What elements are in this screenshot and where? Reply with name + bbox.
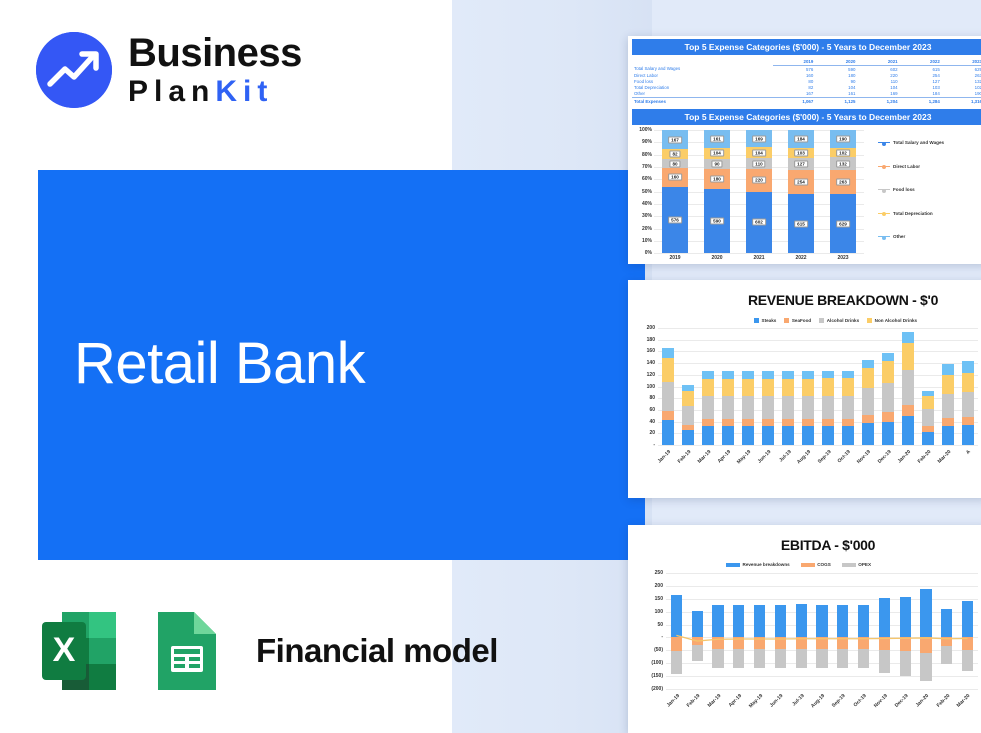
legend-swatch <box>867 318 872 323</box>
stacked-bar <box>662 328 674 445</box>
segment-value-label: 167 <box>668 136 682 143</box>
y-axis-tick: 50% <box>642 189 652 195</box>
bar-segment <box>942 418 954 426</box>
bar-group: Mar-19 <box>698 328 718 445</box>
y-axis-tick: 200 <box>655 583 663 589</box>
table-row: Total Expenses1,0671,1251,2041,2841,316 <box>632 97 981 104</box>
gridline <box>666 573 978 574</box>
plot-area: 1678280160576201916110490180590202016910… <box>654 130 864 253</box>
y-axis-tick: 180 <box>647 337 655 343</box>
x-axis-label: Sep-19 <box>816 449 832 465</box>
stacked-bar <box>822 328 834 445</box>
bar-negative <box>900 651 911 675</box>
bar-group: Feb-19 <box>678 328 698 445</box>
bar-negative <box>920 653 931 681</box>
table-col-header: 2022 <box>900 58 942 66</box>
legend-item: COGS <box>801 562 831 567</box>
bar-segment <box>822 378 834 396</box>
bar-positive <box>712 605 723 637</box>
x-axis-label: Feb-20 <box>935 693 951 709</box>
legend-item: Other <box>878 234 981 239</box>
bar-segment <box>842 419 854 427</box>
bar-segment <box>822 419 834 427</box>
bar-segment <box>722 371 734 379</box>
table-cell: 1,316 <box>942 97 981 104</box>
bar-positive <box>962 601 973 638</box>
segment-value-label: 615 <box>794 220 808 227</box>
legend-swatch <box>726 563 740 567</box>
x-axis-label: May-19 <box>748 693 764 709</box>
bar-negative <box>733 637 744 649</box>
bar-group: Jan-20 <box>898 328 918 445</box>
bar-negative <box>837 649 848 668</box>
x-axis-label: 2022 <box>780 255 822 261</box>
bar-segment <box>882 361 894 383</box>
microsoft-excel-icon: X <box>36 608 122 694</box>
bar-segment: 127 <box>788 158 814 170</box>
x-axis-label: 2021 <box>738 255 780 261</box>
x-axis-label: 2020 <box>696 255 738 261</box>
bar-segment: 602 <box>746 192 772 253</box>
stacked-bar <box>762 328 774 445</box>
bar-positive <box>775 605 786 637</box>
bar-segment <box>902 370 914 405</box>
bar-segment: 161 <box>704 130 730 148</box>
legend-label: Food loss <box>893 187 915 192</box>
segment-value-label: 127 <box>794 160 808 167</box>
bar-negative <box>837 637 848 649</box>
table-cell: 161 <box>815 91 857 98</box>
legend-label: Total Depreciation <box>893 211 933 216</box>
legend-item: Total Depreciation <box>878 211 981 216</box>
bar-segment: 167 <box>662 130 688 149</box>
bar-negative <box>712 637 723 649</box>
bar-segment <box>862 415 874 424</box>
trend-up-arrow-icon <box>36 32 112 108</box>
bar-segment <box>922 396 934 409</box>
bar-group: Mar-20 <box>938 328 958 445</box>
y-axis-tick: 20 <box>649 430 655 436</box>
bar-segment <box>762 426 774 445</box>
legend-label: COGS <box>817 562 831 567</box>
bar-negative <box>858 637 869 649</box>
x-axis-label: Oct-19 <box>853 693 868 708</box>
bar-group: 1901021322636292023 <box>822 130 864 253</box>
bar-group: 1841031272546152022 <box>780 130 822 253</box>
bar-segment <box>882 353 894 361</box>
table-cell: 576 <box>773 66 815 73</box>
bar-segment: 82 <box>662 149 688 158</box>
table-cell: 1,125 <box>815 97 857 104</box>
y-axis-tick: 20% <box>642 226 652 232</box>
ebitda-chart: 25020015010050-(50)(100)(150)(200)Jan-19… <box>632 555 981 723</box>
bar-negative <box>962 637 973 650</box>
bar-positive <box>858 605 869 637</box>
legend-swatch <box>784 318 789 323</box>
bar-segment: 104 <box>704 148 730 159</box>
x-axis-label: Feb-19 <box>686 693 702 709</box>
bar-segment <box>682 391 694 406</box>
google-sheets-icon <box>144 608 230 694</box>
bar-segment <box>722 379 734 397</box>
bar-segment <box>662 411 674 420</box>
segment-value-label: 80 <box>669 160 680 167</box>
y-axis-tick: 100% <box>639 127 652 133</box>
svg-text:X: X <box>53 631 76 669</box>
table-col-header: 2020 <box>815 58 857 66</box>
y-axis-tick: 120 <box>647 372 655 378</box>
bar-group: Jun-19 <box>758 328 778 445</box>
bar-segment <box>922 409 934 425</box>
bar-segment <box>962 361 974 373</box>
bar-segment <box>962 417 974 425</box>
bar-group: Jan-19 <box>658 328 678 445</box>
x-axis-label: Oct-19 <box>837 449 852 464</box>
bar-group: Nov-19 <box>858 328 878 445</box>
table-col-header: 2021 <box>857 58 899 66</box>
legend-marker <box>878 142 890 143</box>
bar-segment <box>782 371 794 379</box>
x-axis-label: Mar-19 <box>707 693 723 709</box>
table-cell: 590 <box>815 66 857 73</box>
bar-segment <box>902 416 914 445</box>
bar-negative <box>796 649 807 668</box>
bar-negative <box>879 650 890 673</box>
bar-segment: 254 <box>788 170 814 194</box>
table-cell: 1,284 <box>900 97 942 104</box>
x-axis-label: Dec-19 <box>876 449 892 465</box>
bar-positive <box>796 604 807 637</box>
bar-negative <box>671 637 682 650</box>
segment-value-label: 169 <box>752 135 766 142</box>
bar-positive <box>941 609 952 638</box>
x-axis-label: Aug-19 <box>796 449 812 465</box>
bar-group: Apr-19 <box>718 328 738 445</box>
stacked-bar <box>862 328 874 445</box>
legend-item: Total Salary and Wages <box>878 140 981 145</box>
bar-segment: 169 <box>746 130 772 147</box>
bar-negative <box>775 649 786 668</box>
stacked-bar <box>802 328 814 445</box>
brand-line-1: Business <box>128 33 302 73</box>
brand-kit-text: Kit <box>215 75 273 108</box>
revenue-breakdown-card[interactable]: REVENUE BREAKDOWN - $'0 2001801601401201… <box>628 280 981 498</box>
legend-label: Direct Labor <box>893 164 920 169</box>
bar-negative <box>941 637 952 646</box>
legend-item: Revenue breakdowns <box>726 562 790 567</box>
bar-segment <box>942 364 954 375</box>
stacked-bar <box>942 328 954 445</box>
bar-segment: 90 <box>704 159 730 169</box>
x-axis-label: Mar-20 <box>937 449 953 465</box>
y-axis-tick: 70% <box>642 164 652 170</box>
bar-positive <box>900 597 911 638</box>
bar-negative <box>754 637 765 649</box>
bar-segment <box>862 423 874 445</box>
segment-value-label: 102 <box>836 149 850 156</box>
bar-group: 16782801605762019 <box>654 130 696 253</box>
segment-value-label: 629 <box>836 220 850 227</box>
x-axis-label: 2019 <box>654 255 696 261</box>
bar-positive <box>837 605 848 637</box>
bar-group: Aug-19 <box>798 328 818 445</box>
bar-segment <box>782 426 794 445</box>
x-axis-label: Sep-19 <box>831 693 847 709</box>
y-axis-tick: 10% <box>642 238 652 244</box>
gridline <box>666 586 978 587</box>
revenue-breakdown-chart: 20018016014012010080604020-Jan-19Feb-19M… <box>632 310 981 485</box>
bar-segment: 263 <box>830 170 856 195</box>
table-cell: 167 <box>773 91 815 98</box>
bar-segment <box>902 343 914 370</box>
bar-segment <box>682 406 694 425</box>
bar-segment <box>702 379 714 397</box>
bar-negative <box>692 645 703 661</box>
legend-label: Revenue breakdowns <box>743 562 790 567</box>
legend-label: Other <box>893 234 905 239</box>
bar-negative <box>941 646 952 664</box>
chart-legend: Total Salary and WagesDirect LaborFood l… <box>878 140 981 239</box>
bar-segment <box>802 396 814 419</box>
legend-item: Non Alcohol Drinks <box>867 318 917 323</box>
stacked-bar <box>962 328 974 445</box>
bar-segment <box>742 426 754 445</box>
bar-segment <box>962 425 974 445</box>
y-axis-tick: 90% <box>642 139 652 145</box>
bar-segment <box>822 396 834 419</box>
legend-label: Steaks <box>762 318 777 323</box>
segment-value-label: 110 <box>752 160 765 167</box>
chart-legend: Revenue breakdownsCOGSOPEX <box>726 562 871 567</box>
legend-marker <box>878 166 890 167</box>
bar-segment <box>762 419 774 426</box>
x-axis-label: Jan-20 <box>915 693 930 708</box>
ebitda-card[interactable]: EBITDA - $'000 25020015010050-(50)(100)(… <box>628 525 981 733</box>
stacked-bar: 1678280160576 <box>662 130 688 253</box>
x-axis-label: Dec-19 <box>894 693 910 709</box>
bar-group: Oct-19 <box>838 328 858 445</box>
bar-segment <box>762 379 774 397</box>
expense-chart-banner: Top 5 Expense Categories ($'000) - 5 Yea… <box>632 109 981 125</box>
y-axis-tick: 80% <box>642 152 652 158</box>
gridline <box>666 689 978 690</box>
bar-segment <box>962 373 974 392</box>
revenue-chart-title: REVENUE BREAKDOWN - $'0 <box>702 292 981 308</box>
bar-positive <box>754 605 765 637</box>
bar-negative <box>816 649 827 668</box>
bar-segment <box>742 379 754 397</box>
legend-label: Alcohol Drinks <box>827 318 859 323</box>
bar-segment <box>942 394 954 418</box>
bar-segment <box>862 360 874 368</box>
bar-segment <box>862 388 874 414</box>
row-label: Other <box>632 91 773 98</box>
plot-area: Jan-19Feb-19Mar-19Apr-19May-19Jun-19Jul-… <box>658 328 978 445</box>
bar-segment: 629 <box>830 194 856 253</box>
y-axis-tick: - <box>653 442 655 448</box>
bar-negative <box>900 637 911 651</box>
table-cell: 190 <box>942 91 981 98</box>
bar-segment: 102 <box>830 148 856 158</box>
bar-group: Jul-19 <box>778 328 798 445</box>
y-axis-tick: 150 <box>655 596 663 602</box>
segment-value-label: 104 <box>710 150 724 157</box>
stacked-bar: 16110490180590 <box>704 130 730 253</box>
segment-value-label: 220 <box>752 177 766 184</box>
bar-segment <box>902 332 914 343</box>
y-axis-tick: 50 <box>657 622 663 628</box>
bar-group: Dec-19 <box>878 328 898 445</box>
table-col-header <box>632 58 773 66</box>
table-cell: 615 <box>900 66 942 73</box>
x-axis-label: Jul-19 <box>791 693 805 707</box>
y-axis-tick: 60% <box>642 176 652 182</box>
segment-value-label: 180 <box>710 175 724 182</box>
bar-segment <box>722 396 734 419</box>
bar-segment: 184 <box>788 130 814 148</box>
bar-segment <box>882 383 894 412</box>
bar-segment <box>742 419 754 426</box>
bar-negative <box>796 637 807 649</box>
bar-segment <box>882 422 894 445</box>
y-axis-tick: 250 <box>655 570 663 576</box>
segment-value-label: 576 <box>668 216 682 223</box>
brand-plan-text: Plan <box>128 75 215 108</box>
bar-negative <box>692 637 703 645</box>
bar-negative <box>879 637 890 650</box>
y-axis-tick: 40% <box>642 201 652 207</box>
bar-group: May-19 <box>738 328 758 445</box>
segment-value-label: 82 <box>669 151 680 158</box>
y-axis-tick: 80 <box>649 395 655 401</box>
stacked-bar <box>842 328 854 445</box>
x-axis-label: May-19 <box>736 449 752 465</box>
bar-segment <box>722 419 734 426</box>
bar-positive <box>692 611 703 637</box>
brand-wordmark: Business PlanKit <box>128 33 302 107</box>
y-axis-tick: 140 <box>647 360 655 366</box>
table-cell: 602 <box>857 66 899 73</box>
segment-value-label: 103 <box>794 149 808 156</box>
segment-value-label: 132 <box>836 160 850 167</box>
y-axis-tick: 30% <box>642 213 652 219</box>
brand-line-2: PlanKit <box>128 77 302 107</box>
bar-segment <box>662 382 674 411</box>
table-header-row: 20192020202120222023 <box>632 58 981 66</box>
stacked-bar <box>702 328 714 445</box>
x-axis-label: Aug-19 <box>810 693 826 709</box>
x-axis-label: Mar-20 <box>956 693 972 709</box>
expense-100-stacked-chart: 100%90%80%70%60%50%40%30%20%10%0%1678280… <box>632 127 981 264</box>
bar-segment <box>942 375 954 394</box>
stacked-bar: 190102132263629 <box>830 130 856 253</box>
legend-item: Steaks <box>754 318 776 323</box>
bar-negative <box>712 649 723 668</box>
stacked-bar <box>902 328 914 445</box>
legend-swatch <box>801 563 815 567</box>
bar-segment <box>802 379 814 397</box>
bar-segment <box>922 432 934 445</box>
y-axis-tick: 100 <box>655 609 663 615</box>
bar-negative <box>754 649 765 668</box>
bar-group: 1691041102206022021 <box>738 130 780 253</box>
bar-segment <box>902 405 914 417</box>
segment-value-label: 254 <box>794 179 808 186</box>
bar-segment <box>662 358 674 381</box>
y-axis-tick: (150) <box>651 673 663 679</box>
x-axis-label: Apr-19 <box>717 449 732 464</box>
bar-segment <box>842 426 854 445</box>
y-axis-tick: 60 <box>649 407 655 413</box>
stacked-bar <box>782 328 794 445</box>
bar-negative <box>733 649 744 668</box>
y-axis-tick: 40 <box>649 419 655 425</box>
x-axis-label: Nov-19 <box>873 693 889 709</box>
x-axis-label: Mar-19 <box>697 449 713 465</box>
x-axis-label: Feb-20 <box>917 449 933 465</box>
bar-segment: 576 <box>662 187 688 254</box>
bar-segment: 590 <box>704 189 730 254</box>
table-cell: 629 <box>942 66 981 73</box>
bar-segment <box>702 396 714 419</box>
table-body: Total Salary and Wages576590602615629Dir… <box>632 66 981 105</box>
bar-segment: 104 <box>746 147 772 158</box>
legend-item: SeaFood <box>784 318 811 323</box>
x-axis-label: Jun-19 <box>757 449 773 465</box>
stacked-bar <box>882 328 894 445</box>
bar-positive <box>920 589 931 637</box>
expense-categories-card[interactable]: Top 5 Expense Categories ($'000) - 5 Yea… <box>628 36 981 264</box>
y-axis-tick: (200) <box>651 686 663 692</box>
legend-marker <box>878 236 890 237</box>
bar-segment <box>742 396 754 419</box>
bar-group: 161104901805902020 <box>696 130 738 253</box>
x-axis-label: Feb-19 <box>677 449 693 465</box>
segment-value-label: 90 <box>711 161 722 168</box>
gridline <box>654 253 864 254</box>
bar-segment: 110 <box>746 158 772 169</box>
bar-group: Feb-20 <box>918 328 938 445</box>
bar-negative <box>671 651 682 674</box>
legend-swatch <box>842 563 856 567</box>
row-label: Total Expenses <box>632 97 773 104</box>
bar-segment <box>782 396 794 419</box>
brand-logo: Business PlanKit <box>36 32 302 108</box>
bar-segment <box>802 419 814 426</box>
bar-segment <box>662 420 674 445</box>
stacked-bar: 184103127254615 <box>788 130 814 253</box>
bar-positive <box>671 595 682 638</box>
page-title: Retail Bank <box>74 330 365 397</box>
table-col-header: 2023 <box>942 58 981 66</box>
bar-negative <box>858 649 869 668</box>
x-axis-label: Jan-19 <box>657 449 672 464</box>
bar-positive <box>733 605 744 637</box>
stacked-bar <box>742 328 754 445</box>
table-cell: 184 <box>900 91 942 98</box>
bar-segment <box>782 419 794 426</box>
bar-segment <box>702 419 714 426</box>
bar-segment <box>742 371 754 379</box>
bar-segment <box>942 426 954 445</box>
bar-segment: 103 <box>788 148 814 158</box>
bar-segment <box>842 396 854 419</box>
bar-group: A <box>958 328 978 445</box>
legend-marker <box>878 189 890 190</box>
row-label: Total Salary and Wages <box>632 66 773 73</box>
segment-value-label: 190 <box>836 136 850 143</box>
ebitda-chart-title: EBITDA - $'000 <box>672 537 981 553</box>
